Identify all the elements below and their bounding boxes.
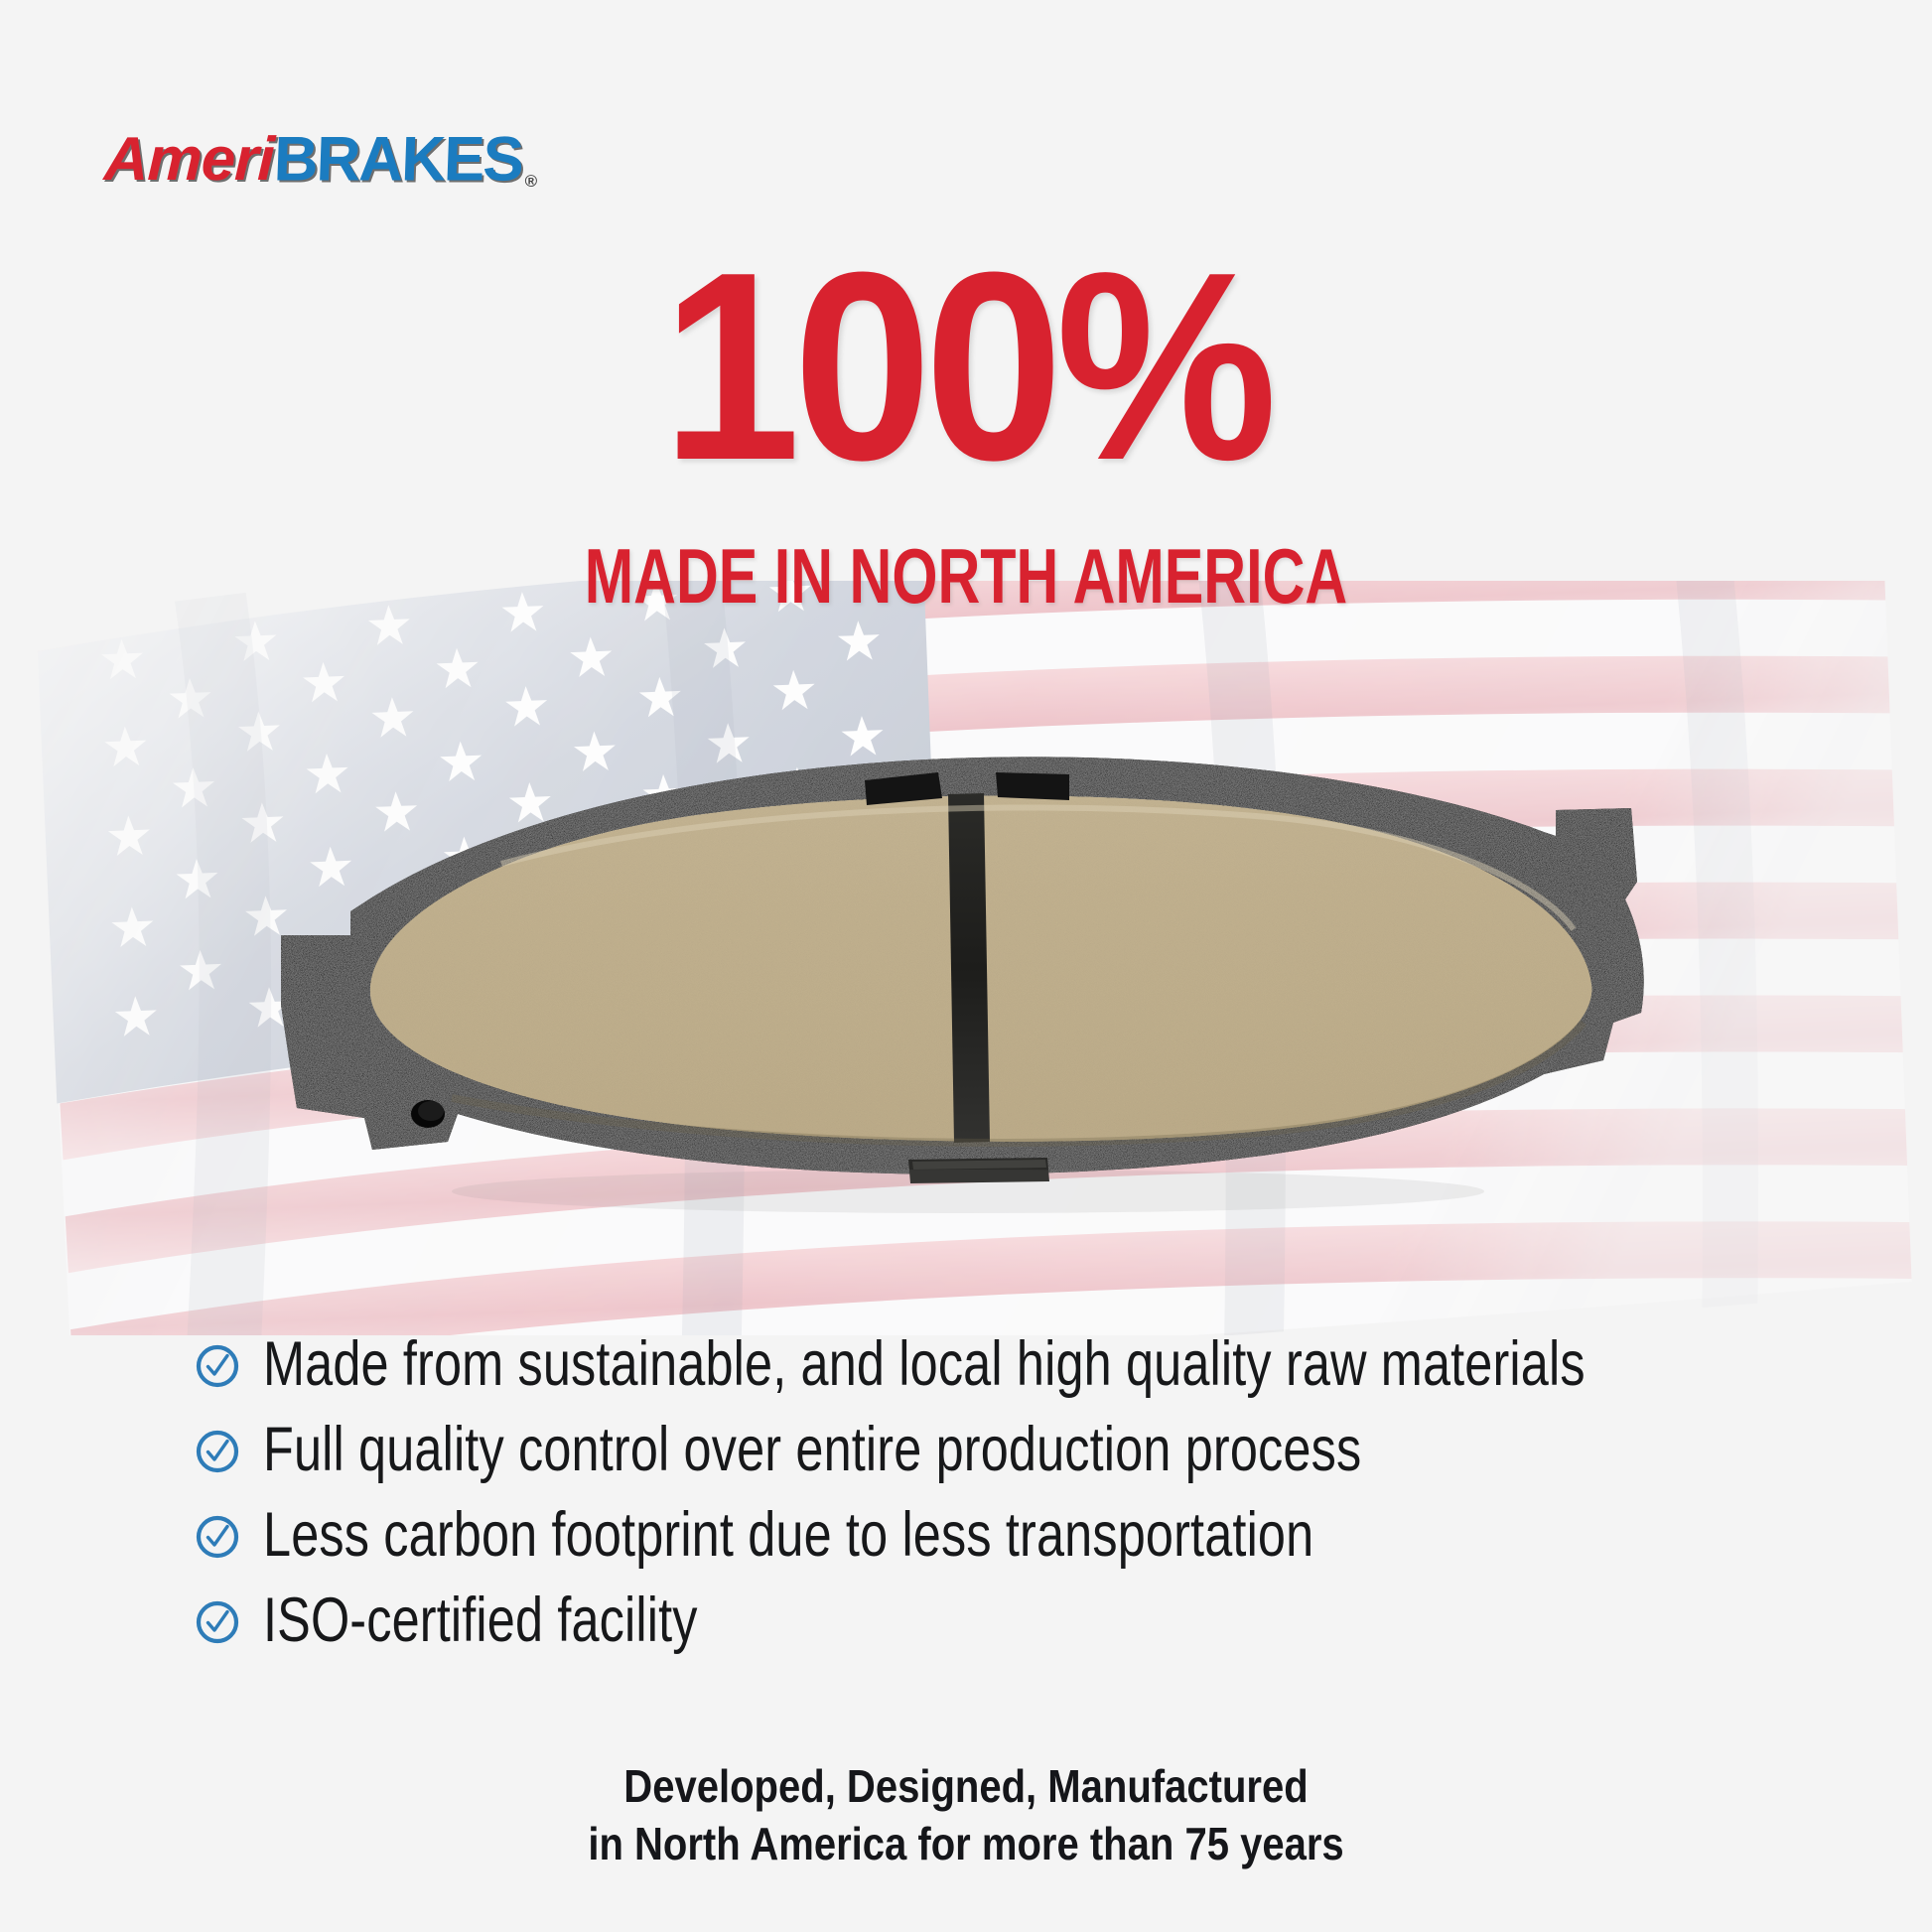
footer-tagline: Developed, Designed, Manufactured in Nor… — [0, 1757, 1932, 1872]
mounting-hole — [411, 1100, 445, 1128]
footer-line-1: Developed, Designed, Manufactured — [125, 1757, 1806, 1815]
marketing-banner: Ameri BRAKES ® 100% MADE IN NORTH AMERIC… — [0, 0, 1932, 1932]
check-circle-icon — [194, 1428, 241, 1475]
brake-pad-product-image — [253, 725, 1693, 1271]
list-item: ISO-certified facility — [194, 1587, 1782, 1654]
check-circle-icon — [194, 1598, 241, 1646]
list-item: Less carbon footprint due to less transp… — [194, 1501, 1782, 1569]
logo-text-brakes: BRAKES — [272, 123, 522, 195]
feature-label: Less carbon footprint due to less transp… — [263, 1502, 1313, 1568]
footer-line-2: in North America for more than 75 years — [125, 1815, 1806, 1872]
feature-label: Made from sustainable, and local high qu… — [263, 1331, 1586, 1397]
feature-label: ISO-certified facility — [263, 1587, 698, 1653]
check-circle-icon — [194, 1342, 241, 1390]
logo-text-ameri: Ameri — [103, 124, 275, 195]
feature-label: Full quality control over entire product… — [263, 1417, 1361, 1482]
feature-list: Made from sustainable, and local high qu… — [194, 1330, 1782, 1672]
headline-subtitle: MADE IN NORTH AMERICA — [232, 536, 1701, 616]
center-wear-slot — [948, 793, 990, 1143]
headline-percent: 100% — [68, 243, 1864, 491]
list-item: Full quality control over entire product… — [194, 1416, 1782, 1483]
registered-trademark-icon: ® — [525, 172, 537, 192]
brake-pad-illustration — [253, 725, 1693, 1271]
check-circle-icon — [194, 1513, 241, 1561]
list-item: Made from sustainable, and local high qu… — [194, 1330, 1782, 1398]
ameribrakes-logo[interactable]: Ameri BRAKES ® — [104, 124, 536, 195]
